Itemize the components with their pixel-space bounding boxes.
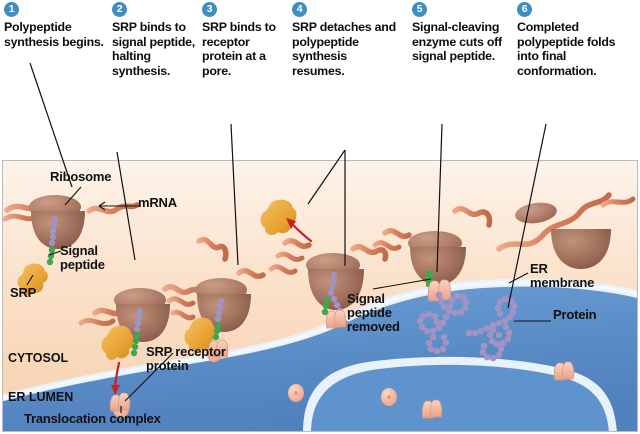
mrna-strand-released — [603, 199, 633, 205]
step-header-row: 1 Polypeptide synthesis begins. 2 SRP bi… — [0, 0, 640, 158]
label-signal-peptide-removed: Signal peptide removed — [347, 292, 400, 334]
vesicle-dot-core — [387, 395, 391, 399]
step-text-5: Signal-cleaving enzyme cuts off signal p… — [412, 20, 512, 64]
pore-right-half — [562, 362, 574, 379]
label-protein: Protein — [553, 308, 596, 322]
pore-right-half — [430, 400, 442, 417]
step-text-1: Polypeptide synthesis begins. — [4, 20, 108, 49]
step-number-badge-5: 5 — [412, 2, 427, 17]
pore-right-half — [334, 310, 346, 327]
step-text-2: SRP binds to signal peptide, halting syn… — [112, 20, 198, 78]
pore-right-half — [118, 393, 130, 410]
label-srp-receptor-protein: SRP receptor protein — [146, 345, 226, 373]
step-text-4: SRP detaches and polypeptide synthesis r… — [292, 20, 396, 78]
translocation-complex-pore — [326, 310, 346, 328]
step-text-6: Completed polypeptide folds into final c… — [517, 20, 637, 78]
label-ribosome: Ribosome — [50, 170, 111, 184]
vesicle-dot-core — [294, 391, 298, 395]
step-text-3: SRP binds to receptor protein at a pore. — [202, 20, 288, 78]
label-er-lumen: ER LUMEN — [8, 390, 73, 404]
label-translocation-complex: Translocation complex — [24, 412, 161, 426]
label-cytosol: CYTOSOL — [8, 351, 68, 365]
label-er-membrane: ER membrane — [530, 262, 594, 290]
step-column-5: 5 Signal-cleaving enzyme cuts off signal… — [412, 2, 512, 64]
diagram-canvas — [3, 161, 638, 432]
step-column-4: 4 SRP detaches and polypeptide synthesis… — [292, 2, 396, 78]
step-number-badge-6: 6 — [517, 2, 532, 17]
step-number-badge-3: 3 — [202, 2, 217, 17]
step-number-badge-4: 4 — [292, 2, 307, 17]
step-column-3: 3 SRP binds to receptor protein at a por… — [202, 2, 288, 78]
step-number-badge-2: 2 — [112, 2, 127, 17]
label-signal-peptide: Signal peptide — [60, 244, 105, 272]
step-column-1: 1 Polypeptide synthesis begins. — [4, 2, 108, 49]
step-column-2: 2 SRP binds to signal peptide, halting s… — [112, 2, 198, 78]
step-number-badge-1: 1 — [4, 2, 19, 17]
translocation-complex-pore — [110, 393, 130, 411]
label-srp: SRP — [10, 286, 36, 300]
cell-diagram — [2, 160, 638, 432]
mrna-strand — [81, 320, 113, 323]
label-mrna: mRNA — [138, 196, 177, 210]
step-column-6: 6 Completed polypeptide folds into final… — [517, 2, 637, 78]
figure-root: 1 Polypeptide synthesis begins. 2 SRP bi… — [0, 0, 640, 434]
